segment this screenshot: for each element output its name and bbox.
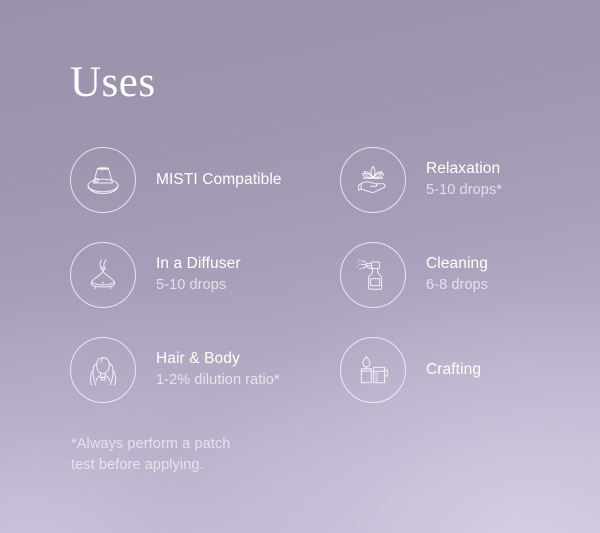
use-item-label: Cleaning bbox=[426, 254, 488, 274]
page-title: Uses bbox=[70, 61, 156, 104]
lotus-hand-icon bbox=[340, 147, 406, 213]
use-item-crafting: Crafting bbox=[340, 336, 540, 404]
use-item-labels: Cleaning 6-8 drops bbox=[426, 254, 488, 296]
use-item-in-a-diffuser: In a Diffuser 5-10 drops bbox=[70, 241, 340, 309]
uses-grid: MISTI Compatible bbox=[70, 146, 540, 431]
use-item-label: Hair & Body bbox=[156, 349, 280, 369]
uses-row: In a Diffuser 5-10 drops bbox=[70, 241, 540, 336]
use-item-misti-compatible: MISTI Compatible bbox=[70, 146, 340, 214]
use-item-sublabel: 5-10 drops bbox=[156, 276, 241, 296]
use-item-labels: Relaxation 5-10 drops* bbox=[426, 159, 502, 201]
use-item-label: MISTI Compatible bbox=[156, 170, 282, 190]
use-item-labels: Hair & Body 1-2% dilution ratio* bbox=[156, 349, 280, 391]
diffuser-icon bbox=[70, 242, 136, 308]
use-item-cleaning: Cleaning 6-8 drops bbox=[340, 241, 540, 309]
candle-jug-icon bbox=[340, 337, 406, 403]
use-item-labels: MISTI Compatible bbox=[156, 170, 282, 190]
use-item-label: Relaxation bbox=[426, 159, 502, 179]
uses-row: Hair & Body 1-2% dilution ratio* bbox=[70, 336, 540, 431]
misti-device-icon bbox=[70, 147, 136, 213]
use-item-sublabel: 6-8 drops bbox=[426, 276, 488, 296]
uses-row: MISTI Compatible bbox=[70, 146, 540, 241]
use-item-label: In a Diffuser bbox=[156, 254, 241, 274]
use-item-labels: Crafting bbox=[426, 360, 481, 380]
use-item-label: Crafting bbox=[426, 360, 481, 380]
use-item-sublabel: 5-10 drops* bbox=[426, 181, 502, 201]
uses-infographic-card: Uses MISTI Compatible bbox=[0, 0, 600, 533]
use-item-relaxation: Relaxation 5-10 drops* bbox=[340, 146, 540, 214]
use-item-labels: In a Diffuser 5-10 drops bbox=[156, 254, 241, 296]
use-item-hair-and-body: Hair & Body 1-2% dilution ratio* bbox=[70, 336, 340, 404]
footnote-text: *Always perform a patch test before appl… bbox=[71, 434, 230, 477]
spray-bottle-icon bbox=[340, 242, 406, 308]
hair-body-icon bbox=[70, 337, 136, 403]
use-item-sublabel: 1-2% dilution ratio* bbox=[156, 371, 280, 391]
